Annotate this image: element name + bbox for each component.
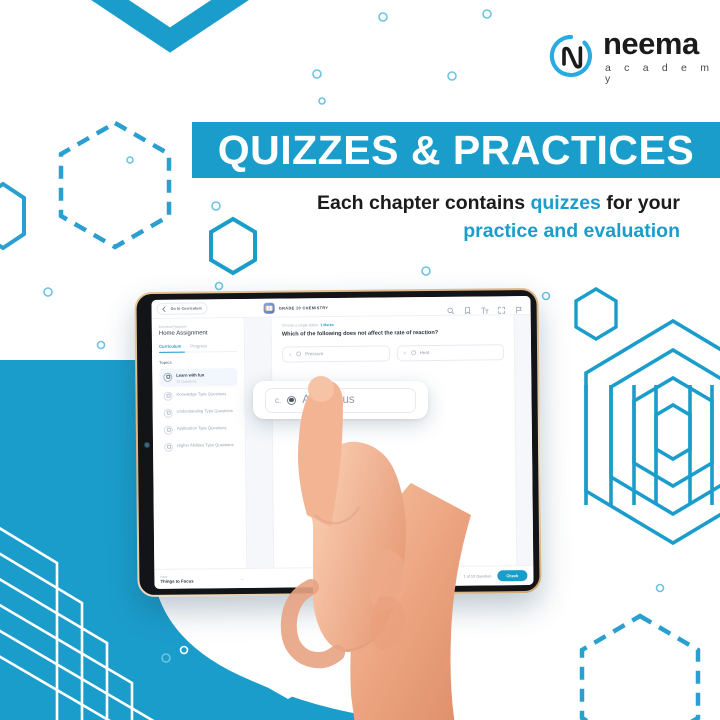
next-topic[interactable]: Next: Things to Focus bbox=[160, 574, 193, 584]
radio-icon[interactable] bbox=[411, 351, 416, 356]
next-value: Things to Focus bbox=[160, 578, 193, 584]
page-title: QUIZZES & PRACTICES bbox=[218, 127, 694, 174]
topic-label: Higher Abilities Type Questions bbox=[177, 443, 234, 450]
question-text: Which of the following does not affect t… bbox=[282, 329, 504, 339]
next-arrow-icon[interactable]: → bbox=[240, 575, 245, 581]
topic-status-icon bbox=[164, 409, 173, 418]
bookmark-icon[interactable] bbox=[464, 302, 472, 310]
topic-status-icon bbox=[163, 392, 172, 401]
radio-icon[interactable] bbox=[296, 352, 301, 357]
option-label: Heat bbox=[420, 350, 430, 355]
poster-canvas: neema a c a d e m y QUIZZES & PRACTICES … bbox=[0, 0, 720, 720]
curriculum-sidebar: Chemical Reaction Home Assignment Curric… bbox=[152, 318, 248, 569]
sidebar-item-understanding-type-questions[interactable]: Understanding Type Questions bbox=[160, 404, 238, 421]
logo-tagline: a c a d e m y bbox=[605, 63, 720, 84]
course-header: GRADE 10 CHEMISTRY bbox=[264, 302, 329, 314]
sidebar-item-higher-abilities-type-questions[interactable]: Higher Abilities Type Questions bbox=[160, 438, 238, 455]
topics-label: Topics bbox=[159, 359, 237, 365]
topic-status-icon bbox=[164, 426, 173, 435]
neema-circle-n-icon bbox=[548, 33, 594, 79]
flag-icon[interactable] bbox=[515, 301, 523, 309]
option-letter: a. bbox=[289, 352, 292, 356]
question-marks: 1 Marks bbox=[320, 323, 333, 327]
breadcrumb: Chemical Reaction bbox=[159, 324, 237, 329]
sidebar-item-learn-with-fun[interactable]: Learn with fun 10 Questions bbox=[159, 368, 237, 387]
question-instruction: Choose a single option bbox=[282, 323, 319, 327]
topic-status-icon bbox=[163, 372, 172, 381]
logo-wordmark: neema bbox=[603, 28, 720, 59]
title-banner: QUIZZES & PRACTICES bbox=[192, 122, 720, 178]
check-button[interactable]: Check bbox=[497, 570, 527, 582]
hand-pointing-illustration bbox=[255, 365, 480, 720]
topic-label: Learn with fun bbox=[176, 372, 204, 378]
option-a-pressure[interactable]: a. Pressure bbox=[282, 345, 390, 362]
option-row: a. Pressure b. Heat bbox=[282, 344, 504, 362]
sidebar-item-knowledge-type-questions[interactable]: Knowledge Type Questions bbox=[159, 387, 237, 404]
sidebar-item-application-type-questions[interactable]: Application Type Questions bbox=[160, 421, 238, 438]
sidebar-tabs: Curriculum Progress bbox=[159, 343, 237, 353]
topic-meta: 10 Questions bbox=[176, 379, 204, 383]
question-meta: Choose a single option 1 Marks bbox=[282, 321, 504, 327]
arrow-left-icon bbox=[161, 305, 168, 312]
subtitle-highlight-practice: practice and evaluation bbox=[463, 220, 680, 242]
tab-active-indicator bbox=[159, 351, 185, 353]
subtitle-line1-b: for your bbox=[601, 192, 680, 214]
go-to-curriculum-label: Go to Curriculum bbox=[171, 306, 202, 310]
go-to-curriculum-button[interactable]: Go to Curriculum bbox=[157, 302, 208, 315]
option-label: Pressure bbox=[305, 351, 323, 356]
search-icon[interactable] bbox=[447, 302, 455, 310]
text-size-icon[interactable] bbox=[481, 301, 489, 309]
option-b-heat[interactable]: b. Heat bbox=[396, 344, 504, 361]
brand-logo: neema a c a d e m y bbox=[548, 28, 720, 84]
tab-curriculum[interactable]: Curriculum bbox=[159, 344, 181, 349]
topic-status-icon bbox=[164, 443, 173, 452]
topbar-actions bbox=[447, 301, 526, 310]
topic-label: Knowledge Type Questions bbox=[176, 392, 226, 398]
subtitle-line1-a: Each chapter contains bbox=[317, 192, 530, 214]
topic-label: Application Type Questions bbox=[177, 426, 227, 432]
fullscreen-icon[interactable] bbox=[498, 301, 506, 309]
tab-progress[interactable]: Progress bbox=[190, 343, 207, 348]
subtitle-highlight-quizzes: quizzes bbox=[530, 192, 600, 214]
course-title: GRADE 10 CHEMISTRY bbox=[279, 305, 329, 311]
topic-label: Understanding Type Questions bbox=[177, 409, 233, 416]
right-rail bbox=[514, 315, 534, 565]
assignment-title: Home Assignment bbox=[159, 330, 237, 337]
option-letter: b. bbox=[404, 351, 407, 355]
camera-icon bbox=[145, 442, 149, 446]
subtitle: Each chapter contains quizzes for your p… bbox=[120, 190, 680, 245]
chemistry-app-icon bbox=[264, 302, 275, 313]
